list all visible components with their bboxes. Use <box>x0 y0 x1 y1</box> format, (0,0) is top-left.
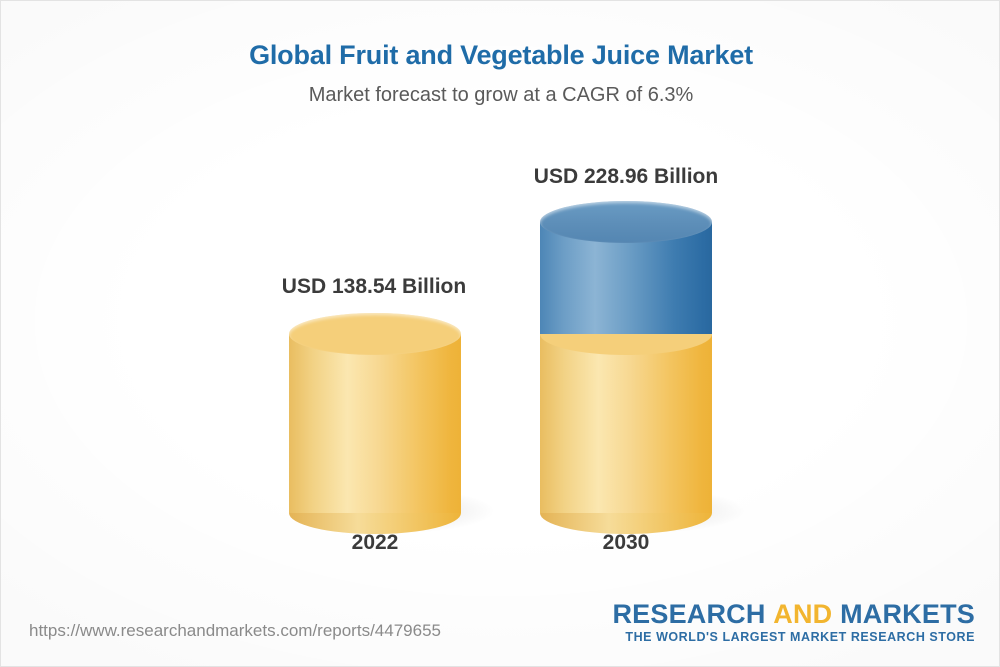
chart-plot-area: USD 138.54 Billion USD 228.96 Billion <box>1 1 1000 601</box>
logo-word-and: AND <box>773 599 832 629</box>
axis-label-2030: 2030 <box>506 531 746 555</box>
bar-value-label-2022: USD 138.54 Billion <box>209 275 539 299</box>
bar-cylinder-2030[interactable] <box>540 201 712 513</box>
bar-top-cap-2022 <box>289 313 461 355</box>
axis-label-2022: 2022 <box>255 531 495 555</box>
bar-value-label-2030: USD 228.96 Billion <box>461 165 791 189</box>
bar-top-cap-rim-2030 <box>540 201 712 243</box>
bar-body-2022 <box>289 334 461 513</box>
source-url[interactable]: https://www.researchandmarkets.com/repor… <box>29 621 441 641</box>
infographic-card: Global Fruit and Vegetable Juice Market … <box>0 0 1000 667</box>
brand-logo[interactable]: RESEARCH AND MARKETS THE WORLD'S LARGEST… <box>612 599 975 644</box>
logo-tagline: THE WORLD'S LARGEST MARKET RESEARCH STOR… <box>612 630 975 644</box>
bar-segment-2030-growth <box>540 201 712 334</box>
bar-segment-2022-base <box>289 313 461 513</box>
bar-top-cap-2030 <box>540 201 712 243</box>
bar-body-yellow-2030 <box>540 334 712 513</box>
logo-word-research: RESEARCH <box>612 599 765 629</box>
logo-wordmark: RESEARCH AND MARKETS <box>612 599 975 629</box>
logo-word-markets: MARKETS <box>840 599 975 629</box>
bar-top-cap-rim-2022 <box>289 313 461 355</box>
bar-segment-2030-base <box>540 313 712 513</box>
bar-cylinder-2022[interactable] <box>289 313 461 513</box>
